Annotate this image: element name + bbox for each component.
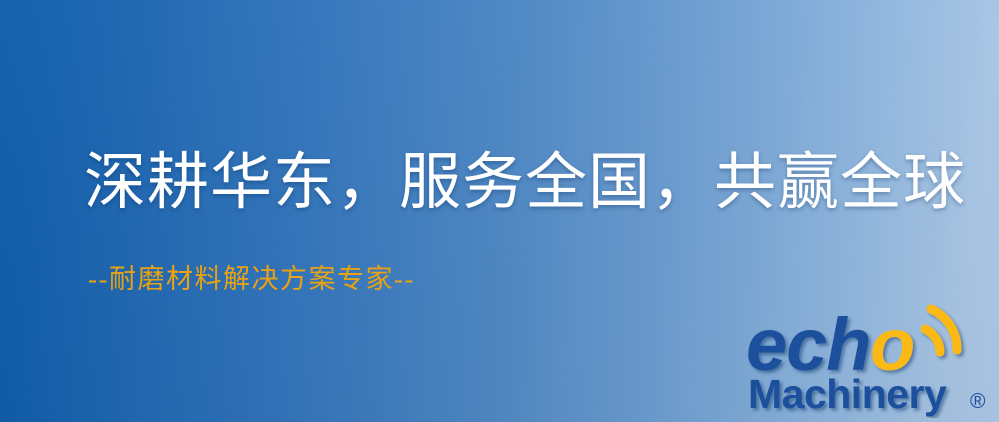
- page-title: 深耕华东，服务全国，共赢全球: [84, 152, 966, 214]
- hero-banner: 深耕华东，服务全国，共赢全球 --耐磨材料解决方案专家-- ech o Mach…: [0, 0, 999, 422]
- page-subtitle: --耐磨材料解决方案专家--: [88, 266, 415, 293]
- echo-machinery-logo[interactable]: ech o Machinery ®: [744, 296, 996, 418]
- signal-waves-icon: [925, 309, 957, 352]
- logo-tagline: Machinery: [748, 371, 947, 417]
- registered-trademark-icon: ®: [970, 390, 986, 413]
